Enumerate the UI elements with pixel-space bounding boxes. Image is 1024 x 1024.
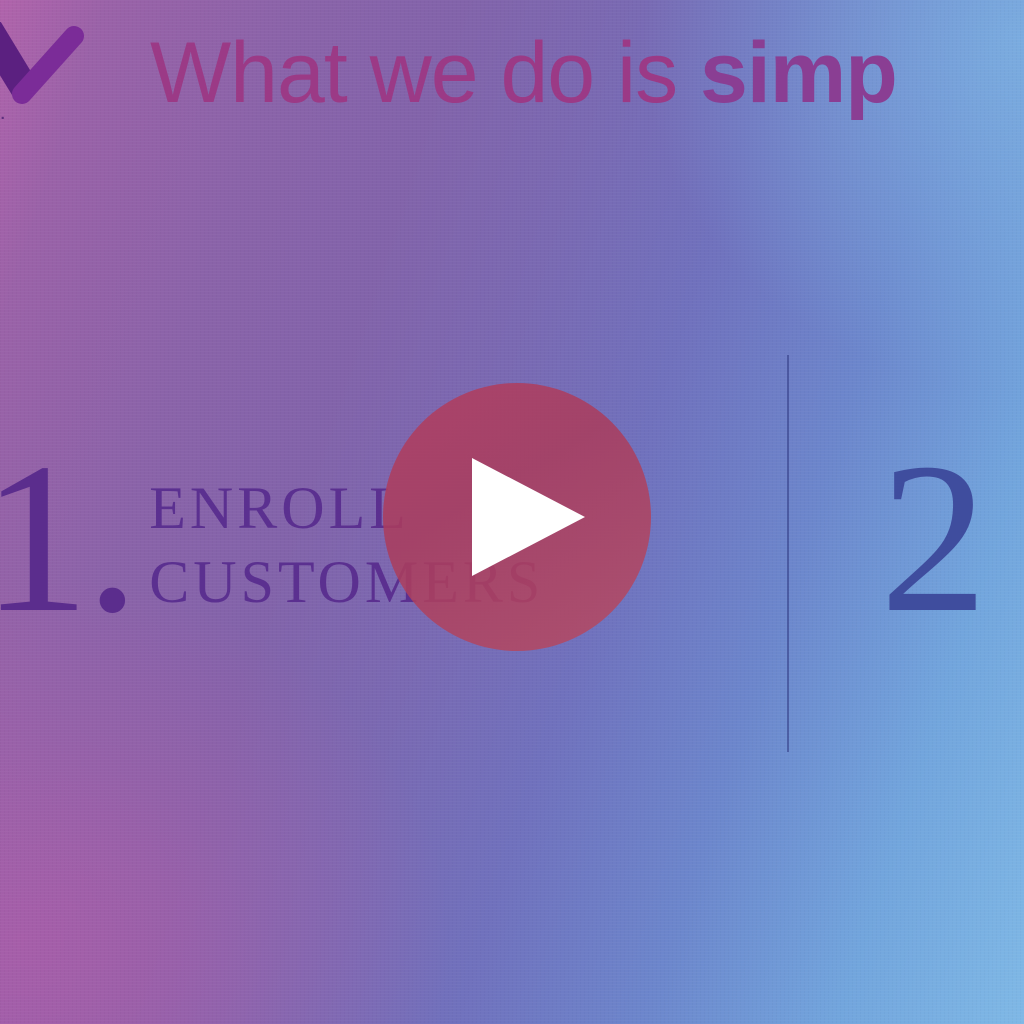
brand-logo: TER.: [0, 22, 86, 126]
step-item-2: 2: [880, 430, 984, 645]
step-2-number: 2: [880, 430, 984, 645]
headline-light-text: What we do is: [150, 25, 700, 121]
play-triangle-icon: [472, 458, 585, 576]
play-button[interactable]: [383, 383, 651, 651]
video-thumbnail-stage: TER. What we do is simp 1. ENROLL CUSTOM…: [0, 0, 1024, 1024]
brand-wordmark: TER.: [0, 106, 7, 123]
headline-bold-text: simp: [700, 25, 897, 121]
steps-divider: [787, 355, 789, 752]
step-1-number: 1.: [0, 430, 135, 645]
headline: What we do is simp: [150, 28, 897, 119]
v-checkmark-logo-icon: [0, 22, 86, 104]
